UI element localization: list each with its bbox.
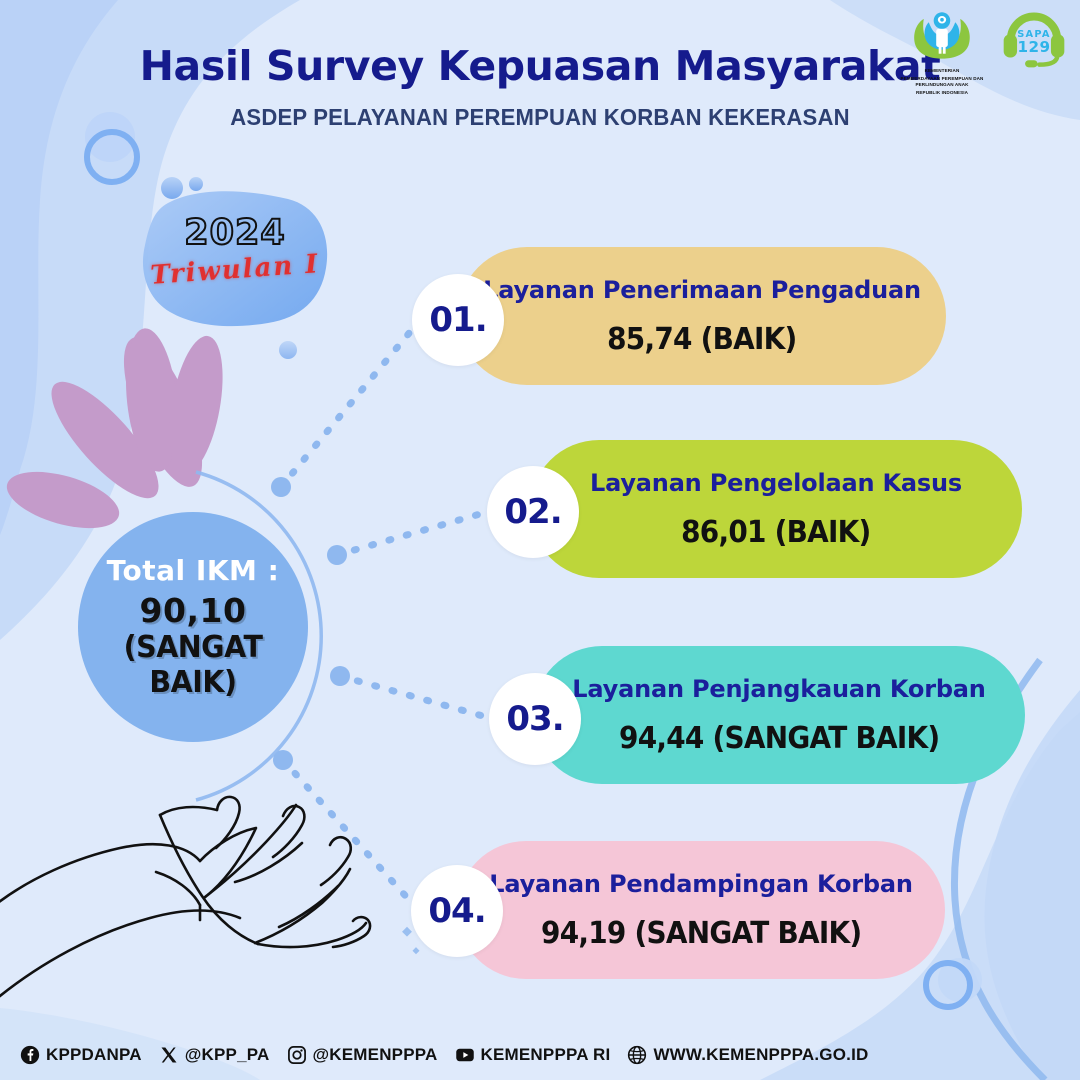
decor-ring-br: [926, 963, 970, 1007]
connector-node-1: [271, 477, 291, 497]
total-ikm-circle: Total IKM : 90,10 (SANGAT BAIK): [78, 512, 308, 742]
service-card-3-title: Layanan Penjangkauan Korban: [572, 674, 985, 705]
connector-node-4: [273, 750, 293, 770]
service-card-2-number: 02.: [504, 492, 561, 532]
service-card-3-score: 94,44 (SANGAT BAIK): [619, 721, 939, 756]
total-ikm-value: 90,10: [140, 592, 247, 630]
service-card-4-score: 94,19 (SANGAT BAIK): [541, 916, 861, 951]
ministry-emblem-icon: [900, 4, 984, 62]
open-hand-illustration: [0, 797, 370, 1000]
service-card-3-badge: 03.: [489, 673, 581, 765]
service-card-4-title: Layanan Pendampingan Korban: [489, 869, 913, 900]
service-card-4-badge: 04.: [411, 865, 503, 957]
instagram-icon: [287, 1045, 307, 1065]
service-card-2-badge: 02.: [487, 466, 579, 558]
footer-youtube-text: KEMENPPPA RI: [481, 1045, 611, 1065]
sapa-logo: SAPA 129: [998, 4, 1070, 75]
logo-group: KEMENTERIAN PEMBERDAYAAN PEREMPUAN DAN P…: [900, 4, 1070, 97]
service-card-2-score: 86,01 (BAIK): [681, 515, 870, 550]
footer-item-x[interactable]: @KPP_PA: [159, 1045, 270, 1065]
svg-text:129: 129: [1018, 38, 1051, 56]
service-card-1-score: 85,74 (BAIK): [607, 322, 796, 357]
infographic-canvas: Hasil Survey Kepuasan Masyarakat ASDEP P…: [0, 0, 1080, 1080]
service-card-1-badge: 01.: [412, 274, 504, 366]
service-card-3-number: 03.: [506, 699, 563, 739]
footer-instagram-text: @KEMENPPPA: [313, 1045, 438, 1065]
footer-facebook-text: KPPDANPA: [46, 1045, 142, 1065]
service-card-2-title: Layanan Pengelolaan Kasus: [590, 468, 962, 499]
social-footer: KPPDANPA @KPP_PA @KEMENPPPA KEMENPPPA RI: [0, 1030, 1080, 1080]
connector-line-3: [340, 676, 490, 718]
ministry-logo-line3: REPUBLIK INDONESIA: [900, 90, 984, 97]
petal-cluster: [1, 326, 232, 539]
ministry-logo: KEMENTERIAN PEMBERDAYAAN PEREMPUAN DAN P…: [900, 4, 984, 97]
period-year: 2024: [140, 213, 330, 253]
decor-dot-mid: [279, 341, 297, 359]
footer-website-text: WWW.KEMENPPPA.GO.ID: [653, 1045, 868, 1065]
globe-icon: [627, 1045, 647, 1065]
x-twitter-icon: [159, 1045, 179, 1065]
service-card-4[interactable]: Layanan Pendampingan Korban 94,19 (SANGA…: [457, 841, 945, 979]
connector-line-1: [281, 320, 420, 487]
footer-item-facebook[interactable]: KPPDANPA: [20, 1045, 142, 1065]
facebook-icon: [20, 1045, 40, 1065]
footer-item-instagram[interactable]: @KEMENPPPA: [287, 1045, 438, 1065]
ministry-logo-line1: KEMENTERIAN: [900, 68, 984, 75]
page-subtitle: ASDEP PELAYANAN PEREMPUAN KORBAN KEKERAS…: [22, 104, 1059, 131]
footer-item-website[interactable]: WWW.KEMENPPPA.GO.ID: [627, 1045, 868, 1065]
service-card-1[interactable]: Layanan Penerimaan Pengaduan 85,74 (BAIK…: [458, 247, 946, 385]
connector-node-2: [327, 545, 347, 565]
decor-circle-filled-br: [938, 958, 982, 1002]
decor-ring-tl: [87, 132, 137, 182]
connector-line-2: [337, 512, 487, 555]
youtube-icon: [455, 1045, 475, 1065]
service-card-4-number: 04.: [428, 891, 485, 931]
period-badge: 2024 Triwulan I: [140, 185, 330, 320]
sapa-headset-icon: SAPA 129: [998, 4, 1070, 70]
service-card-1-number: 01.: [429, 300, 486, 340]
connector-line-4: [283, 760, 420, 912]
footer-x-text: @KPP_PA: [185, 1045, 270, 1065]
footer-item-youtube[interactable]: KEMENPPPA RI: [455, 1045, 611, 1065]
period-quarter: Triwulan I: [139, 248, 331, 291]
total-ikm-grade: (SANGAT BAIK): [84, 630, 303, 700]
service-card-2[interactable]: Layanan Pengelolaan Kasus 86,01 (BAIK): [530, 440, 1022, 578]
ministry-logo-line2: PEMBERDAYAAN PEREMPUAN DAN PERLINDUNGAN …: [900, 76, 984, 89]
connector-node-3: [330, 666, 350, 686]
total-ikm-label: Total IKM :: [107, 554, 280, 587]
service-card-3[interactable]: Layanan Penjangkauan Korban 94,44 (SANGA…: [533, 646, 1025, 784]
service-card-1-title: Layanan Penerimaan Pengaduan: [483, 275, 921, 306]
